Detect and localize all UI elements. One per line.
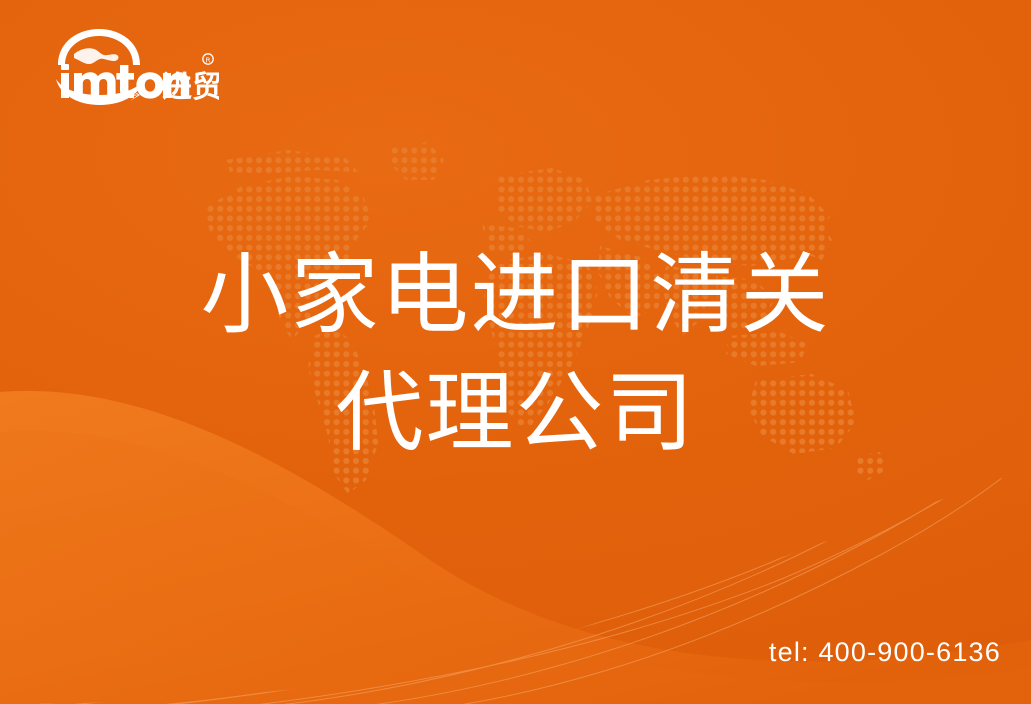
registered-trademark-icon: R [203, 54, 213, 65]
promo-banner: 进贸通 R 小家电进口清关 代理公司 tel: 400-900-6136 [0, 0, 1031, 704]
page-title: 小家电进口清关 代理公司 [0, 236, 1031, 472]
brand-logo[interactable]: 进贸通 R [34, 27, 219, 105]
headline-line-2: 代理公司 [0, 354, 1031, 472]
headline-line-1: 小家电进口清关 [0, 236, 1031, 354]
globe-arc-icon [58, 29, 140, 65]
swoosh-arrow-icon [56, 79, 144, 105]
logo-wordmark-chinese: 进贸通 [162, 70, 219, 105]
svg-text:R: R [206, 56, 211, 64]
contact-phone[interactable]: tel: 400-900-6136 [769, 637, 1001, 668]
